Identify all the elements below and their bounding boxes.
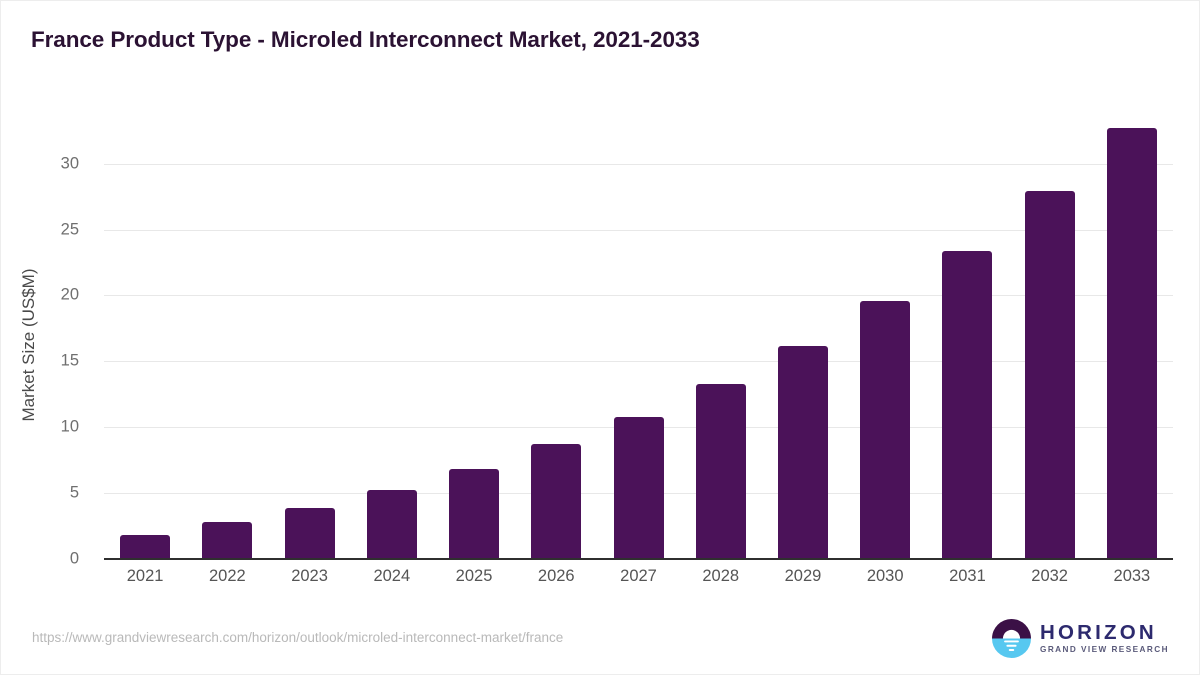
bar[interactable] (860, 301, 910, 559)
logo-text: HORIZON GRAND VIEW RESEARCH (1040, 623, 1169, 655)
bar[interactable] (1025, 191, 1075, 559)
bar[interactable] (531, 444, 581, 559)
x-axis-baseline (104, 558, 1173, 560)
x-axis-tick-label: 2026 (538, 567, 575, 586)
x-axis-tick-label: 2028 (702, 567, 739, 586)
x-axis-tick-label: 2021 (127, 567, 164, 586)
x-axis-tick-label: 2031 (949, 567, 986, 586)
x-axis-tick-label: 2027 (620, 567, 657, 586)
y-axis-tick-label: 0 (70, 550, 79, 569)
y-axis-title: Market Size (US$M) (19, 160, 39, 530)
y-axis-tick-label: 25 (61, 220, 79, 239)
chart-title: France Product Type - Microled Interconn… (31, 27, 700, 53)
y-axis-tick-label: 20 (61, 286, 79, 305)
x-axis-tick-labels: 2021202220232024202520262027202820292030… (104, 567, 1173, 597)
y-axis-tick-labels: Market Size (US$M) 051015202530 (1, 111, 89, 559)
horizon-logo-icon (992, 619, 1031, 658)
chart-card: France Product Type - Microled Interconn… (0, 0, 1200, 675)
x-axis-tick-label: 2022 (209, 567, 246, 586)
plot-area (104, 111, 1173, 559)
y-axis-tick-label: 30 (61, 154, 79, 173)
y-axis-tick-label: 5 (70, 484, 79, 503)
bar[interactable] (449, 469, 499, 559)
x-axis-tick-label: 2029 (785, 567, 822, 586)
x-axis-tick-label: 2030 (867, 567, 904, 586)
logo-wordmark: HORIZON (1040, 623, 1169, 644)
x-axis-tick-label: 2024 (373, 567, 410, 586)
source-url[interactable]: https://www.grandviewresearch.com/horizo… (32, 630, 563, 645)
bar[interactable] (778, 346, 828, 559)
logo-tagline: GRAND VIEW RESEARCH (1040, 646, 1169, 654)
brand-logo: HORIZON GRAND VIEW RESEARCH (992, 619, 1169, 658)
bar[interactable] (367, 490, 417, 559)
bar[interactable] (1107, 128, 1157, 559)
bar[interactable] (614, 417, 664, 559)
bar[interactable] (942, 251, 992, 559)
bar-series (104, 111, 1173, 559)
bar[interactable] (120, 535, 170, 559)
x-axis-tick-label: 2025 (456, 567, 493, 586)
x-axis-tick-label: 2033 (1114, 567, 1151, 586)
x-axis-tick-label: 2023 (291, 567, 328, 586)
bar[interactable] (696, 384, 746, 559)
x-axis-tick-label: 2032 (1031, 567, 1068, 586)
bar[interactable] (202, 522, 252, 559)
y-axis-tick-label: 15 (61, 352, 79, 371)
bar[interactable] (285, 508, 335, 559)
y-axis-tick-label: 10 (61, 418, 79, 437)
